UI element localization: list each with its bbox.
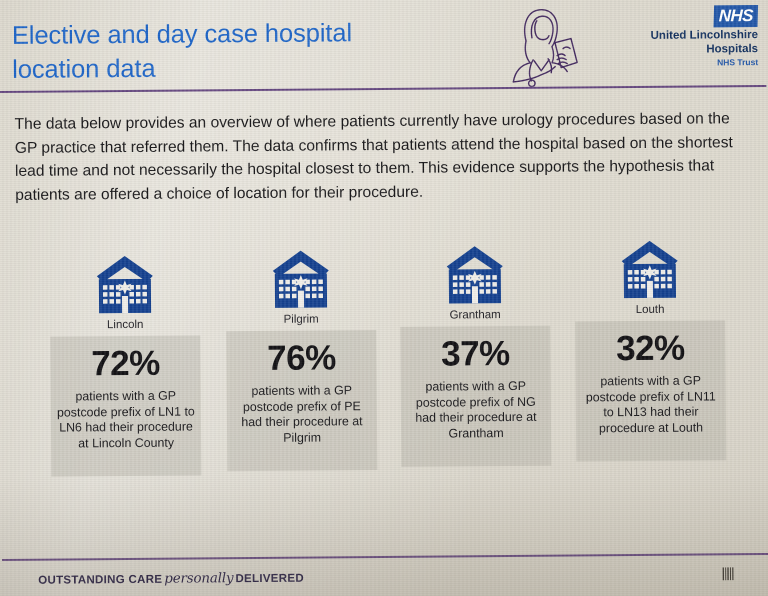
hospital-name: Pilgrim <box>226 313 376 326</box>
slide-content: Elective and day case hospital location … <box>0 0 768 596</box>
nhs-mark: NHS <box>713 5 758 27</box>
header-divider <box>0 85 766 93</box>
nurse-illustration-icon <box>493 0 589 87</box>
stat-percentage: 37% <box>406 334 544 375</box>
stat-description: patients with a GP postcode prefix of NG… <box>407 379 545 442</box>
hospital-column-pilgrim: Pilgrim 76% patients with a GP postcode … <box>226 248 378 471</box>
footer-tagline: OUTSTANDING CAREpersonallyDELIVERED <box>38 570 304 588</box>
stat-percentage: 32% <box>581 328 719 369</box>
nhs-logo: NHS United Lincolnshire Hospitals NHS Tr… <box>640 5 758 69</box>
footer-tagline-script: personally <box>162 570 235 587</box>
stat-description: patients with a GP postcode prefix of LN… <box>57 388 195 451</box>
stat-description: patients with a GP postcode prefix of LN… <box>582 373 720 436</box>
hospital-column-grantham: Grantham 37% patients with a GP postcode… <box>400 244 552 467</box>
stat-card: 32% patients with a GP postcode prefix o… <box>575 320 726 461</box>
intro-paragraph: The data below provides an overview of w… <box>15 107 756 207</box>
slide-footer: OUTSTANDING CAREpersonallyDELIVERED <box>2 557 768 596</box>
stat-percentage: 76% <box>232 338 370 379</box>
hospital-column-louth: Louth 32% patients with a GP postcode pr… <box>575 238 727 461</box>
trust-name: United Lincolnshire Hospitals <box>640 29 758 57</box>
slide-header: Elective and day case hospital location … <box>0 0 766 95</box>
hospital-column-lincoln: Lincoln 72% patients with a GP postcode … <box>50 253 202 476</box>
hospital-name: Grantham <box>400 309 550 322</box>
stat-card: 72% patients with a GP postcode prefix o… <box>50 335 201 476</box>
stat-card: 76% patients with a GP postcode prefix o… <box>226 330 377 471</box>
hospital-building-icon <box>439 244 511 307</box>
stat-percentage: 72% <box>56 343 194 384</box>
hospital-name: Lincoln <box>50 318 200 331</box>
barcode-mark-icon <box>722 567 734 580</box>
stat-description: patients with a GP postcode prefix of PE… <box>233 383 371 446</box>
page-title: Elective and day case hospital location … <box>12 15 483 87</box>
slide-photo: Elective and day case hospital location … <box>0 0 768 596</box>
footer-tagline-part1: OUTSTANDING CARE <box>38 574 162 587</box>
stat-card: 37% patients with a GP postcode prefix o… <box>400 326 551 467</box>
hospital-building-icon <box>265 248 337 311</box>
trust-subtitle: NHS Trust <box>640 57 758 69</box>
hospital-building-icon <box>614 239 686 302</box>
hospital-building-icon <box>89 254 161 317</box>
footer-tagline-part2: DELIVERED <box>235 573 304 586</box>
hospital-name: Louth <box>575 303 725 316</box>
